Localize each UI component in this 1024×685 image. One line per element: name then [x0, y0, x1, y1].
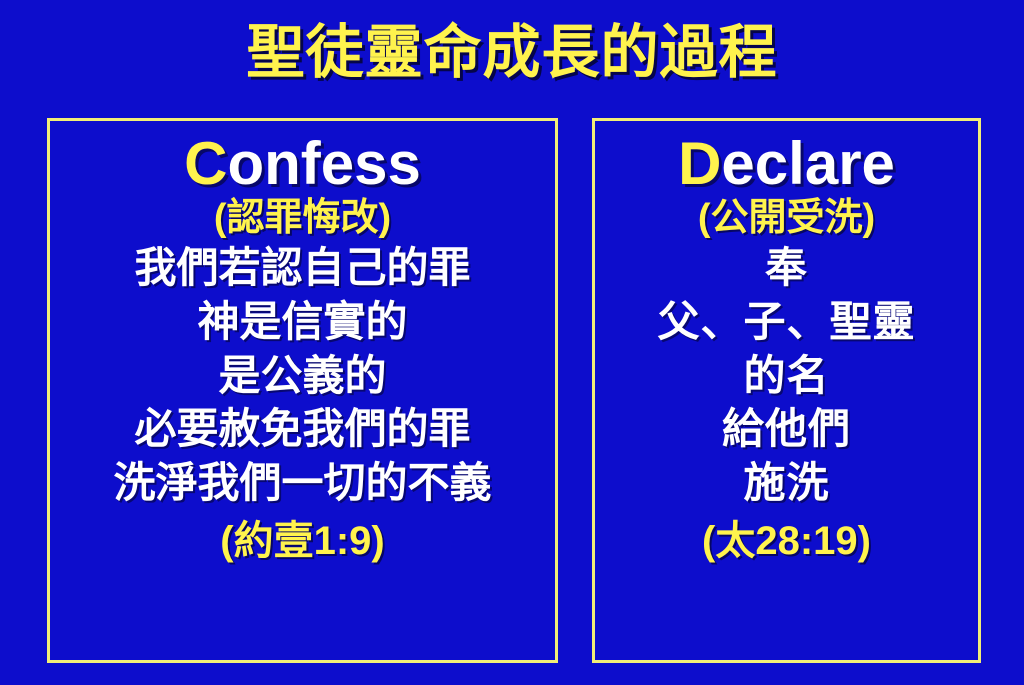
- panel-declare-headline: Declare: [595, 133, 978, 196]
- panel-declare-body-line-4: 給他們: [595, 402, 978, 456]
- panel-confess-body-line-5: 洗淨我們一切的不義: [50, 456, 555, 510]
- panel-confess-body-line-2: 神是信實的: [50, 295, 555, 349]
- panel-row: Confess (認罪悔改) 我們若認自己的罪 神是信實的 是公義的 必要赦免我…: [47, 118, 981, 663]
- panel-confess-content: Confess (認罪悔改) 我們若認自己的罪 神是信實的 是公義的 必要赦免我…: [50, 121, 555, 565]
- panel-confess: Confess (認罪悔改) 我們若認自己的罪 神是信實的 是公義的 必要赦免我…: [47, 118, 558, 663]
- panel-confess-body-line-3: 是公義的: [50, 349, 555, 403]
- panel-declare-reference: (太28:19): [595, 510, 978, 565]
- panel-declare-body-line-3: 的名: [595, 349, 978, 403]
- panel-declare-headline-rest: eclare: [721, 130, 895, 197]
- panel-declare-body-line-2: 父、子、聖靈: [595, 295, 978, 349]
- panel-confess-headline-rest: onfess: [227, 130, 420, 197]
- panel-confess-body-line-4: 必要赦免我們的罪: [50, 402, 555, 456]
- slide-canvas: 聖徒靈命成長的過程 Confess (認罪悔改) 我們若認自己的罪 神是信實的 …: [0, 0, 1024, 685]
- panel-confess-headline-initial: C: [184, 130, 227, 197]
- panel-declare-body-line-1: 奉: [595, 241, 978, 295]
- panel-confess-body-line-1: 我們若認自己的罪: [50, 241, 555, 295]
- panel-declare-body-line-5: 施洗: [595, 456, 978, 510]
- panel-confess-subtitle: (認罪悔改): [50, 196, 555, 241]
- panel-confess-reference: (約壹1:9): [50, 510, 555, 565]
- panel-confess-headline: Confess: [50, 133, 555, 196]
- panel-declare-content: Declare (公開受洗) 奉 父、子、聖靈 的名 給他們 施洗 (太28:1…: [595, 121, 978, 565]
- panel-declare-headline-initial: D: [678, 130, 721, 197]
- page-title: 聖徒靈命成長的過程: [0, 24, 1024, 82]
- panel-declare-subtitle: (公開受洗): [595, 196, 978, 241]
- panel-declare: Declare (公開受洗) 奉 父、子、聖靈 的名 給他們 施洗 (太28:1…: [592, 118, 981, 663]
